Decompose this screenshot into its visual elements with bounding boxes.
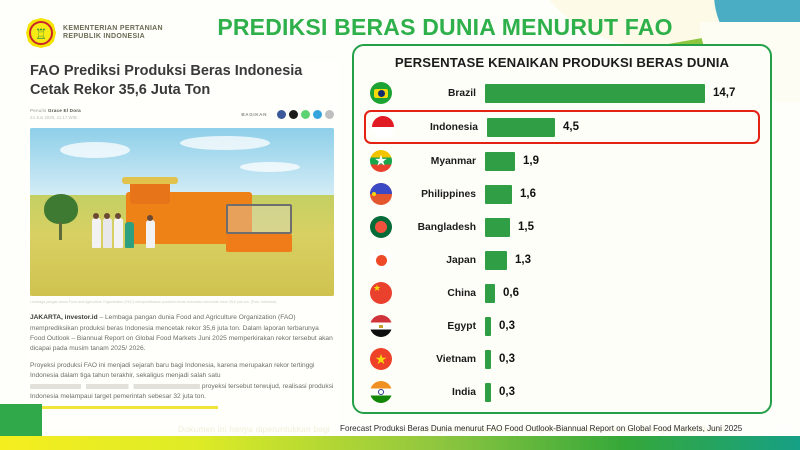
flag-vietnam-icon bbox=[370, 348, 392, 370]
chart-rows: Brazil 14,7 Indonesia 4,5 Myanmar 1,9 Ph… bbox=[364, 77, 760, 408]
news-author: Penulis Grace El Dora bbox=[30, 108, 241, 113]
country-label: Vietnam bbox=[392, 354, 485, 365]
country-label: Brazil bbox=[392, 88, 485, 99]
chart-row-philippines[interactable]: Philippines 1,6 bbox=[364, 178, 760, 210]
flag-japan-icon bbox=[370, 249, 392, 271]
country-label: Egypt bbox=[392, 321, 485, 332]
news-article-card: FAO Prediksi Produksi Beras Indonesia Ce… bbox=[26, 62, 338, 430]
flag-brazil-icon bbox=[370, 82, 392, 104]
chart-row-china[interactable]: China 0,6 bbox=[364, 277, 760, 309]
bar-value: 1,5 bbox=[518, 221, 534, 233]
bar bbox=[485, 383, 491, 402]
news-author-name: Grace El Dora bbox=[48, 108, 81, 113]
bar bbox=[485, 251, 507, 270]
news-photo-caption: Lembaga pangan dunia Food and Agricultur… bbox=[30, 300, 334, 305]
bar bbox=[485, 84, 705, 103]
bar-value: 0,3 bbox=[499, 320, 515, 332]
news-paragraph-2: Proyeksi produksi FAO ini menjadi sejara… bbox=[30, 361, 334, 402]
page-number: 4 bbox=[780, 425, 786, 436]
bar bbox=[485, 350, 491, 369]
news-body: JAKARTA, investor.id – Lembaga pangan du… bbox=[30, 313, 334, 402]
news-date: 24 Jun 2025, 11:17 WIB bbox=[30, 115, 241, 120]
bar bbox=[485, 185, 512, 204]
flag-myanmar-icon bbox=[370, 150, 392, 172]
chart-row-japan[interactable]: Japan 1,3 bbox=[364, 244, 760, 276]
facebook-icon[interactable] bbox=[277, 110, 286, 119]
bar-value: 0,3 bbox=[499, 353, 515, 365]
flag-philippines-icon bbox=[370, 183, 392, 205]
slide-canvas: ♖ KEMENTERIAN PERTANIAN REPUBLIK INDONES… bbox=[0, 0, 800, 450]
news-dateline: JAKARTA, investor.id bbox=[30, 314, 98, 321]
watermark-text: Dokumen ini hanya diperuntukkan bagi bbox=[178, 424, 330, 434]
flag-china-icon bbox=[370, 282, 392, 304]
country-label: India bbox=[392, 387, 485, 398]
chart-row-india[interactable]: India 0,3 bbox=[364, 376, 760, 408]
chart-row-brazil[interactable]: Brazil 14,7 bbox=[364, 77, 760, 109]
bar-value: 0,3 bbox=[499, 386, 515, 398]
bar bbox=[485, 284, 495, 303]
page-title: PREDIKSI BERAS DUNIA MENURUT FAO bbox=[0, 14, 800, 41]
chart-row-indonesia[interactable]: Indonesia 4,5 bbox=[364, 110, 760, 144]
decor-green-block bbox=[0, 404, 42, 436]
chart-row-myanmar[interactable]: Myanmar 1,9 bbox=[364, 145, 760, 177]
news-meta: Penulis Grace El Dora 24 Jun 2025, 11:17… bbox=[30, 105, 334, 123]
news-photo bbox=[30, 128, 334, 296]
x-twitter-icon[interactable] bbox=[289, 110, 298, 119]
country-label: China bbox=[392, 288, 485, 299]
country-label: Philippines bbox=[392, 189, 485, 200]
social-share-row[interactable] bbox=[277, 110, 334, 119]
chart-panel: PERSENTASE KENAIKAN PRODUKSI BERAS DUNIA… bbox=[352, 44, 772, 414]
country-label: Japan bbox=[392, 255, 485, 266]
country-label: Indonesia bbox=[394, 122, 487, 133]
news-paragraph-1: JAKARTA, investor.id – Lembaga pangan du… bbox=[30, 313, 334, 354]
chart-row-bangladesh[interactable]: Bangladesh 1,5 bbox=[364, 211, 760, 243]
share-label: BAGIKAN bbox=[241, 112, 267, 117]
footer-gradient-bar bbox=[0, 436, 800, 450]
news-author-prefix: Penulis bbox=[30, 108, 46, 113]
bar-value: 1,3 bbox=[515, 254, 531, 266]
chart-row-vietnam[interactable]: Vietnam 0,3 bbox=[364, 343, 760, 375]
chart-title: PERSENTASE KENAIKAN PRODUKSI BERAS DUNIA bbox=[364, 55, 760, 70]
flag-bangladesh-icon bbox=[370, 216, 392, 238]
telegram-icon[interactable] bbox=[313, 110, 322, 119]
country-label: Myanmar bbox=[392, 156, 485, 167]
more-share-icon[interactable] bbox=[325, 110, 334, 119]
yellow-highlight-underline bbox=[32, 406, 218, 409]
flag-india-icon bbox=[370, 381, 392, 403]
whatsapp-icon[interactable] bbox=[301, 110, 310, 119]
bar-value: 1,6 bbox=[520, 188, 536, 200]
bar-value: 1,9 bbox=[523, 155, 539, 167]
country-label: Bangladesh bbox=[392, 222, 485, 233]
bar bbox=[487, 118, 555, 137]
bar bbox=[485, 152, 515, 171]
blurred-text-line bbox=[30, 384, 200, 389]
bar bbox=[485, 317, 491, 336]
flag-indonesia-icon bbox=[372, 116, 394, 138]
bar bbox=[485, 218, 510, 237]
news-headline: FAO Prediksi Produksi Beras Indonesia Ce… bbox=[30, 62, 334, 99]
chart-row-egypt[interactable]: Egypt 0,3 bbox=[364, 310, 760, 342]
news-paragraph-2a: Proyeksi produksi FAO ini menjadi sejara… bbox=[30, 362, 314, 379]
chart-source-note: Forecast Produksi Beras Dunia menurut FA… bbox=[340, 424, 742, 433]
bar-value: 14,7 bbox=[713, 87, 735, 99]
bar-value: 4,5 bbox=[563, 121, 579, 133]
bar-value: 0,6 bbox=[503, 287, 519, 299]
flag-egypt-icon bbox=[370, 315, 392, 337]
